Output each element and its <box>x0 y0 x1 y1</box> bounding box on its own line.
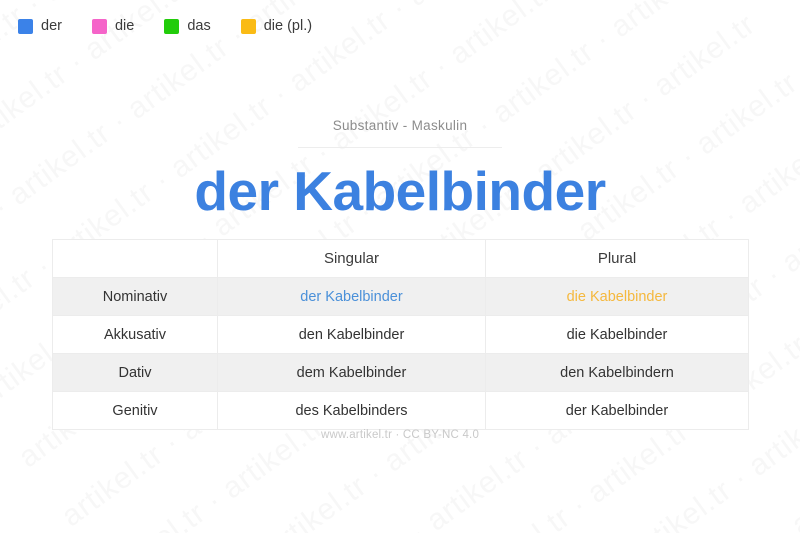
cell-plural: die Kabelbinder <box>486 278 749 316</box>
legend-swatch-icon <box>18 19 33 34</box>
cell-plural: die Kabelbinder <box>486 316 749 354</box>
header-divider <box>298 147 502 148</box>
legend-item-label: die <box>115 18 134 34</box>
table-row: Nominativder Kabelbinderdie Kabelbinder <box>53 278 749 316</box>
column-header-singular: Singular <box>218 240 486 278</box>
cell-singular: des Kabelbinders <box>218 392 486 430</box>
cell-singular: den Kabelbinder <box>218 316 486 354</box>
page-title: der Kabelbinder <box>0 160 800 223</box>
cell-case: Dativ <box>53 354 218 392</box>
cell-case: Nominativ <box>53 278 218 316</box>
table-header-row: Singular Plural <box>53 240 749 278</box>
article-color-legend: derdiedasdie (pl.) <box>18 18 342 34</box>
table-body: Nominativder Kabelbinderdie KabelbinderA… <box>53 278 749 430</box>
table-row: Akkusativden Kabelbinderdie Kabelbinder <box>53 316 749 354</box>
column-header-case <box>53 240 218 278</box>
word-type-subtitle: Substantiv - Maskulin <box>0 118 800 133</box>
legend-item-diepl[interactable]: die (pl.) <box>241 18 312 34</box>
cell-case: Akkusativ <box>53 316 218 354</box>
table-row: Dativdem Kabelbinderden Kabelbindern <box>53 354 749 392</box>
legend-swatch-icon <box>164 19 179 34</box>
cell-case: Genitiv <box>53 392 218 430</box>
legend-item-label: das <box>187 18 210 34</box>
column-header-plural: Plural <box>486 240 749 278</box>
declension-card: artikel.tr · artikel.tr · artikel.tr · a… <box>0 0 800 533</box>
cell-plural: den Kabelbindern <box>486 354 749 392</box>
legend-item-label: die (pl.) <box>264 18 312 34</box>
declension-table: Singular Plural Nominativder Kabelbinder… <box>52 239 749 430</box>
legend-item-label: der <box>41 18 62 34</box>
legend-swatch-icon <box>92 19 107 34</box>
table-row: Genitivdes Kabelbindersder Kabelbinder <box>53 392 749 430</box>
table-head: Singular Plural <box>53 240 749 278</box>
cell-singular: der Kabelbinder <box>218 278 486 316</box>
footer-attribution: www.artikel.tr · CC BY-NC 4.0 <box>0 429 800 441</box>
legend-swatch-icon <box>241 19 256 34</box>
card-content: derdiedasdie (pl.) Substantiv - Maskulin… <box>0 0 800 533</box>
legend-item-der[interactable]: der <box>18 18 62 34</box>
legend-item-das[interactable]: das <box>164 18 210 34</box>
legend-item-die[interactable]: die <box>92 18 134 34</box>
cell-plural: der Kabelbinder <box>486 392 749 430</box>
cell-singular: dem Kabelbinder <box>218 354 486 392</box>
